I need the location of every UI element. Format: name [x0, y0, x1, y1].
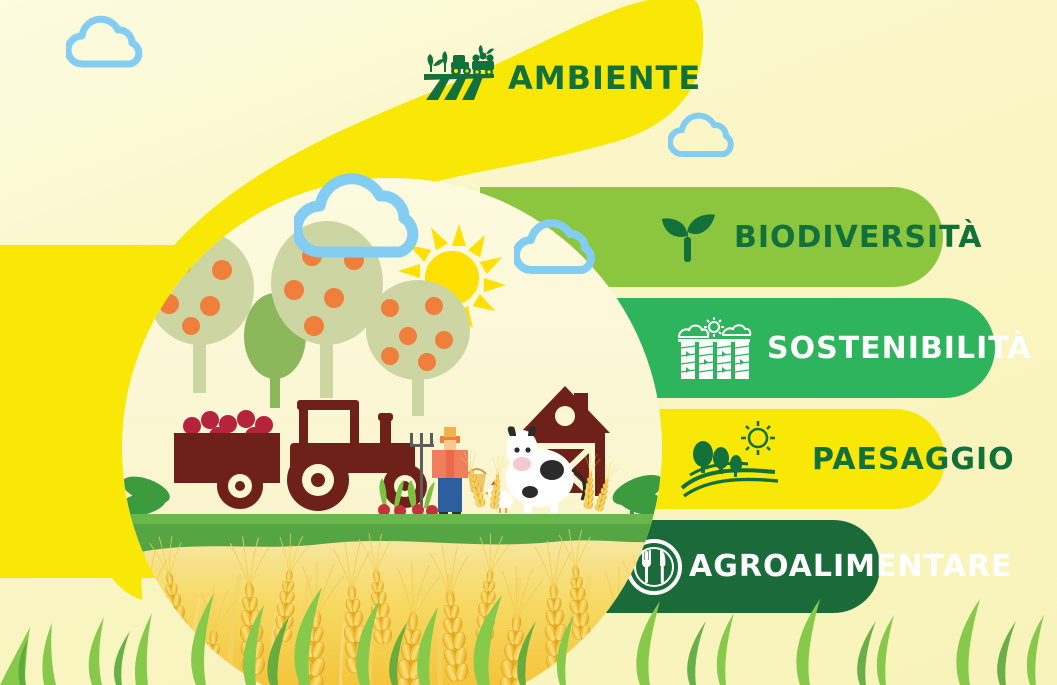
- infographic-canvas: BIODIVERSITÀ: [0, 0, 1057, 685]
- category-label-sostenibilita: SOSTENIBILITÀ: [767, 331, 1032, 366]
- cloud-top-left: [66, 14, 148, 70]
- cloud-top-right: [668, 110, 740, 160]
- farm-tractor-field-icon: [424, 44, 502, 111]
- ambiente-label: AMBIENTE: [508, 59, 701, 97]
- cloud-scene-large: [294, 168, 434, 262]
- sprout-leaf-icon: [660, 211, 716, 263]
- crop-field-sun-clouds-icon: [675, 315, 753, 381]
- cloud-scene-small: [514, 216, 604, 278]
- category-label-biodiversita: BIODIVERSITÀ: [734, 220, 983, 255]
- hills-trees-sun-icon: [680, 420, 790, 498]
- ambiente-header[interactable]: AMBIENTE: [424, 44, 701, 111]
- category-label-paesaggio: PAESAGGIO: [812, 442, 1015, 477]
- grass-blades-strip: [0, 565, 1057, 685]
